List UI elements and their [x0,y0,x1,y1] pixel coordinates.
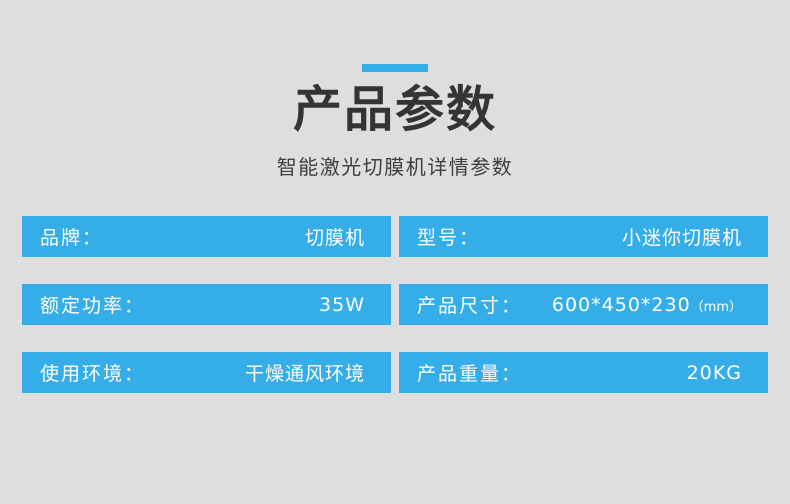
spec-value-text: 20KG [687,362,742,384]
spec-cell-brand: 品牌： 切膜机 [22,216,391,257]
spec-value-text: 35W [319,294,365,316]
spec-value-text: 小迷你切膜机 [622,227,742,249]
spec-label: 额定功率： [40,291,145,318]
product-parameters-page: 产品参数 智能激光切膜机详情参数 品牌： 切膜机 型号： 小迷你切膜机 额定功率… [0,0,790,504]
spec-value: 600*450*230（mm） [552,294,742,316]
spec-label: 品牌： [40,223,103,250]
spec-label: 产品重量： [417,359,522,386]
spec-value: 20KG [687,362,742,384]
spec-cell-model: 型号： 小迷你切膜机 [399,216,768,257]
spec-row: 品牌： 切膜机 型号： 小迷你切膜机 [22,216,768,257]
spec-value-unit: （mm） [691,300,742,315]
spec-value: 小迷你切膜机 [622,223,742,250]
page-title: 产品参数 [0,84,790,137]
spec-value: 干燥通风环境 [245,359,365,386]
spec-cell-operating-environment: 使用环境： 干燥通风环境 [22,352,391,393]
spec-value: 35W [319,294,365,316]
spec-value-text: 600*450*230 [552,294,691,316]
spec-cell-product-weight: 产品重量： 20KG [399,352,768,393]
spec-label: 产品尺寸： [417,291,522,318]
page-header: 产品参数 智能激光切膜机详情参数 [0,0,790,180]
spec-value-text: 切膜机 [305,227,365,249]
spec-row: 额定功率： 35W 产品尺寸： 600*450*230（mm） [22,284,768,325]
spec-cell-rated-power: 额定功率： 35W [22,284,391,325]
title-accent-bar [362,64,428,72]
spec-value: 切膜机 [305,223,365,250]
spec-row: 使用环境： 干燥通风环境 产品重量： 20KG [22,352,768,393]
specification-table: 品牌： 切膜机 型号： 小迷你切膜机 额定功率： 35W 产品尺寸： 600*4… [22,216,768,393]
spec-label: 使用环境： [40,359,145,386]
spec-value-text: 干燥通风环境 [245,363,365,385]
spec-label: 型号： [417,223,480,250]
spec-cell-product-size: 产品尺寸： 600*450*230（mm） [399,284,768,325]
page-subtitle: 智能激光切膜机详情参数 [0,151,790,180]
